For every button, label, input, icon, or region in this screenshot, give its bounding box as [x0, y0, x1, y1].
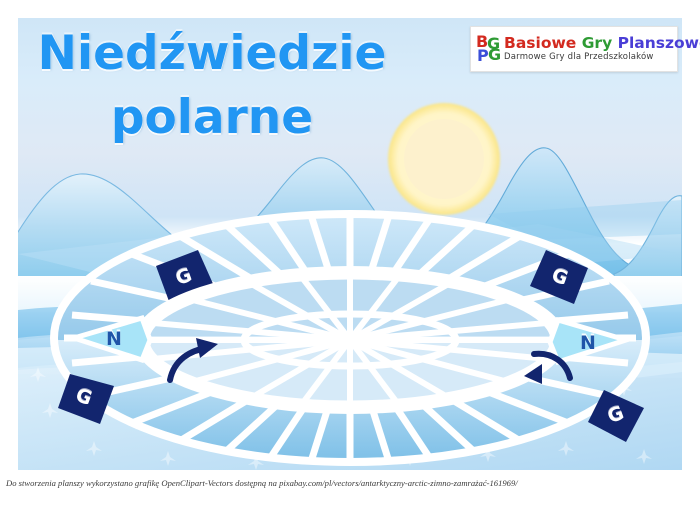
- logo-monogram-g2: G: [488, 47, 501, 63]
- logo-monogram-p: P: [477, 48, 489, 64]
- logo-word-3: Planszowe: [618, 34, 700, 52]
- logo-title: Basiowe Gry Planszowe: [504, 35, 700, 52]
- logo-text-block: Basiowe Gry Planszowe Darmowe Gry dla Pr…: [502, 35, 700, 63]
- game-board-track[interactable]: [18, 18, 682, 470]
- poster-page: G G G G N N Niedźwiedzie polarne B G P G…: [0, 0, 700, 520]
- brand-logo[interactable]: B G P G Basiowe Gry Planszowe Darmowe Gr…: [470, 26, 678, 72]
- footer-credit: Do stworzenia planszy wykorzystano grafi…: [6, 478, 694, 489]
- logo-monogram-icon: B G P G: [476, 32, 502, 66]
- logo-subtitle: Darmowe Gry dla Przedszkolaków: [504, 52, 700, 63]
- logo-word-2: Gry: [582, 34, 612, 52]
- logo-word-1: Basiowe: [504, 34, 576, 52]
- illustration-scene: G G G G N N: [18, 18, 682, 470]
